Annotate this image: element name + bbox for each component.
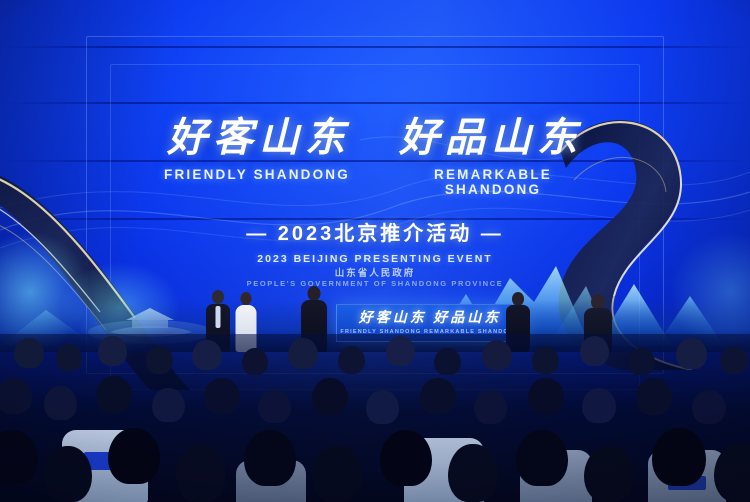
audience-head xyxy=(192,340,222,370)
audience-head xyxy=(176,444,226,502)
audience-head xyxy=(146,346,173,374)
audience-head xyxy=(56,344,82,371)
audience-head xyxy=(528,378,564,414)
audience-head xyxy=(380,430,432,486)
audience-head xyxy=(580,336,609,366)
audience-head xyxy=(242,348,268,375)
audience-head xyxy=(448,444,498,502)
audience-head xyxy=(44,446,92,502)
audience-head xyxy=(312,378,348,415)
audience-head xyxy=(312,446,362,502)
audience-head xyxy=(258,390,291,423)
audience-head xyxy=(44,386,77,420)
audience-head xyxy=(420,378,456,414)
headline-cn-left: 好客山东 xyxy=(167,118,351,158)
audience-head xyxy=(204,378,240,414)
audience-head xyxy=(474,390,507,424)
audience-head xyxy=(628,348,655,375)
audience-head xyxy=(676,338,707,369)
audience-head xyxy=(98,336,127,366)
headline-cn-right: 好品山东 xyxy=(399,118,583,158)
audience-head xyxy=(584,446,634,502)
headline-chinese-row: 好客山东 好品山东 xyxy=(0,118,750,158)
audience-head xyxy=(482,340,512,370)
headline-block: 好客山东 好品山东 FRIENDLY SHANDONG REMARKABLE S… xyxy=(0,118,750,265)
audience-head xyxy=(532,346,559,374)
audience-head xyxy=(386,336,415,366)
audience-head xyxy=(652,428,706,486)
audience-head xyxy=(338,346,365,374)
audience-head xyxy=(516,430,568,486)
audience-head xyxy=(636,378,672,415)
audience-head xyxy=(720,346,748,374)
audience-head xyxy=(582,388,616,423)
event-photo: 好客山东 好品山东 FRIENDLY SHANDONG REMARKABLE S… xyxy=(0,0,750,502)
audience-area xyxy=(0,334,750,502)
audience-head xyxy=(152,388,185,422)
audience-head xyxy=(14,338,44,368)
podium-banner-chinese: 好客山东 好品山东 xyxy=(359,312,502,326)
audience-head xyxy=(366,390,399,424)
audience-head xyxy=(434,348,461,375)
audience-head xyxy=(96,376,132,413)
headline-en-right: REMARKABLE SHANDONG xyxy=(398,167,588,197)
headline-en-left: FRIENDLY SHANDONG xyxy=(162,167,352,197)
audience-head xyxy=(244,430,296,486)
audience-head xyxy=(0,378,32,414)
audience-head xyxy=(0,430,38,484)
headline-english-row: FRIENDLY SHANDONG REMARKABLE SHANDONG xyxy=(0,167,750,197)
subtitle-chinese: — 2023北京推介活动 — xyxy=(0,217,750,246)
audience-head xyxy=(108,428,160,484)
audience-head xyxy=(288,338,318,369)
audience-head xyxy=(692,390,726,424)
